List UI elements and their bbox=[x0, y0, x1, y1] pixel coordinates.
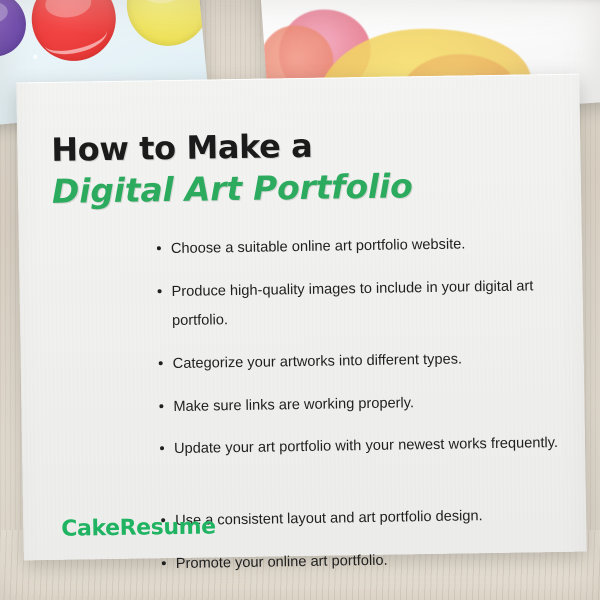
tips-list: Choose a suitable online art portfolio w… bbox=[157, 229, 561, 593]
palette-well-yellow bbox=[123, 0, 209, 50]
list-item: Promote your online art portfolio. bbox=[162, 544, 560, 579]
infographic-poster: How to Make a Digital Art Portfolio Choo… bbox=[0, 0, 600, 600]
bullet-dot-icon bbox=[159, 404, 163, 408]
bullet-dot-icon bbox=[159, 361, 163, 365]
list-item-text: Use a consistent layout and art portfoli… bbox=[175, 508, 483, 529]
list-item-text: Update your art portfolio with your newe… bbox=[174, 435, 558, 457]
title-line-primary: How to Make a bbox=[51, 126, 551, 168]
title-line-accent: Digital Art Portfolio bbox=[52, 166, 553, 211]
list-item-text: Choose a suitable online art portfolio w… bbox=[171, 236, 466, 257]
list-item: Categorize your artworks into different … bbox=[158, 344, 556, 379]
list-item-text: Categorize your artworks into different … bbox=[173, 351, 463, 372]
bullet-dot-icon bbox=[158, 289, 162, 293]
poster-content: How to Make a Digital Art Portfolio Choo… bbox=[16, 74, 586, 561]
list-item: Make sure links are working properly. bbox=[159, 387, 557, 422]
list-item-text: Promote your online art portfolio. bbox=[176, 553, 388, 572]
list-item-text: Produce high-quality images to include i… bbox=[171, 278, 533, 329]
page-title: How to Make a Digital Art Portfolio bbox=[51, 126, 552, 211]
palette-speck bbox=[33, 55, 37, 59]
list-item: Use a consistent layout and art portfoli… bbox=[161, 501, 559, 536]
palette-well-purple bbox=[0, 0, 29, 60]
list-item: Update your art portfolio with your newe… bbox=[160, 429, 559, 493]
bullet-dot-icon bbox=[162, 561, 166, 565]
list-item-text: Make sure links are working properly. bbox=[173, 395, 414, 415]
bullet-dot-icon bbox=[160, 447, 164, 451]
list-item: Produce high-quality images to include i… bbox=[157, 272, 556, 336]
palette-well-red bbox=[28, 0, 120, 65]
palette-brush-swoosh bbox=[41, 16, 110, 60]
brand-wordmark: CakeResume bbox=[61, 514, 216, 541]
bullet-dot-icon bbox=[157, 246, 161, 250]
list-item: Choose a suitable online art portfolio w… bbox=[157, 229, 555, 264]
